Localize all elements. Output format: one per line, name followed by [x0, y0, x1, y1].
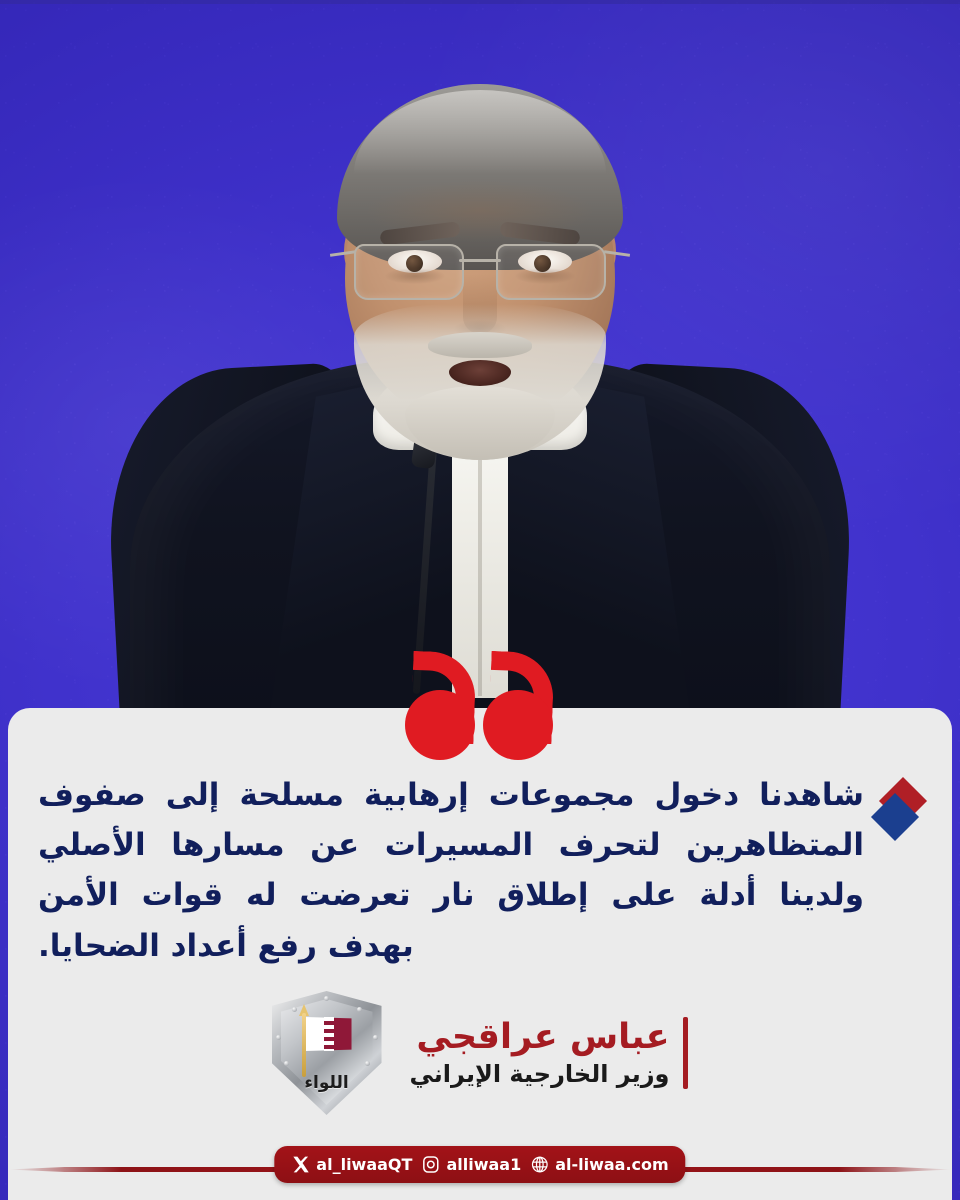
quote-text: شاهدنا دخول مجموعات إرهابية مسلحة إلى صف…: [38, 770, 922, 971]
speaker-title: وزير الخارجية الإيراني: [410, 1059, 670, 1089]
qatar-flag-serration: [324, 1017, 334, 1051]
shield-rivet: [357, 1007, 362, 1012]
social-item-website[interactable]: al-liwaa.com: [530, 1155, 669, 1174]
instagram-handle: alliwaa1: [446, 1155, 521, 1174]
globe-icon: [530, 1155, 549, 1174]
eyeglass-lens-left: [354, 244, 464, 300]
backdrop-top-edge: [0, 0, 960, 4]
x-handle: al_liwaaQT: [316, 1155, 412, 1174]
identity-accent-bar: [683, 1017, 688, 1089]
footer-bar: al_liwaaQT alliwaa1: [8, 1136, 952, 1200]
speaker-name: عباس عراقجي: [410, 1017, 670, 1058]
eyeglasses-icon: [354, 244, 606, 300]
social-item-x[interactable]: al_liwaaQT: [291, 1155, 412, 1174]
speaker-portrait: [118, 68, 842, 728]
quote-card: شاهدنا دخول مجموعات إرهابية مسلحة إلى صف…: [8, 708, 952, 1136]
attribution-row: اللواء عباس عراقجي وزير الخارجية الإيران…: [8, 994, 952, 1112]
shield-wordmark: اللواء: [272, 1073, 382, 1093]
eyeglass-bridge: [459, 259, 501, 262]
shield-rivet: [373, 1035, 378, 1040]
social-item-instagram[interactable]: alliwaa1: [421, 1155, 521, 1174]
shield-rivet: [324, 996, 329, 1001]
mustache: [428, 332, 532, 358]
shield-rivet: [276, 1035, 281, 1040]
eyeglass-lens-right: [496, 244, 606, 300]
shield-rivet: [284, 1061, 289, 1066]
instagram-icon: [421, 1155, 440, 1174]
al-liwaa-shield-logo: اللواء: [272, 991, 382, 1115]
shirt-placket: [478, 424, 482, 696]
website-url: al-liwaa.com: [555, 1155, 669, 1174]
flag-pole: [302, 1013, 306, 1077]
infographic-canvas: شاهدنا دخول مجموعات إرهابية مسلحة إلى صف…: [0, 0, 960, 1200]
identity-text-block: عباس عراقجي وزير الخارجية الإيراني: [410, 1017, 670, 1088]
shield-rivet: [292, 1007, 297, 1012]
social-handles-pill: al_liwaaQT alliwaa1: [274, 1146, 685, 1183]
speaker-identity: عباس عراقجي وزير الخارجية الإيراني: [410, 1017, 689, 1089]
x-twitter-icon: [291, 1155, 310, 1174]
shield-rivet: [365, 1061, 370, 1066]
